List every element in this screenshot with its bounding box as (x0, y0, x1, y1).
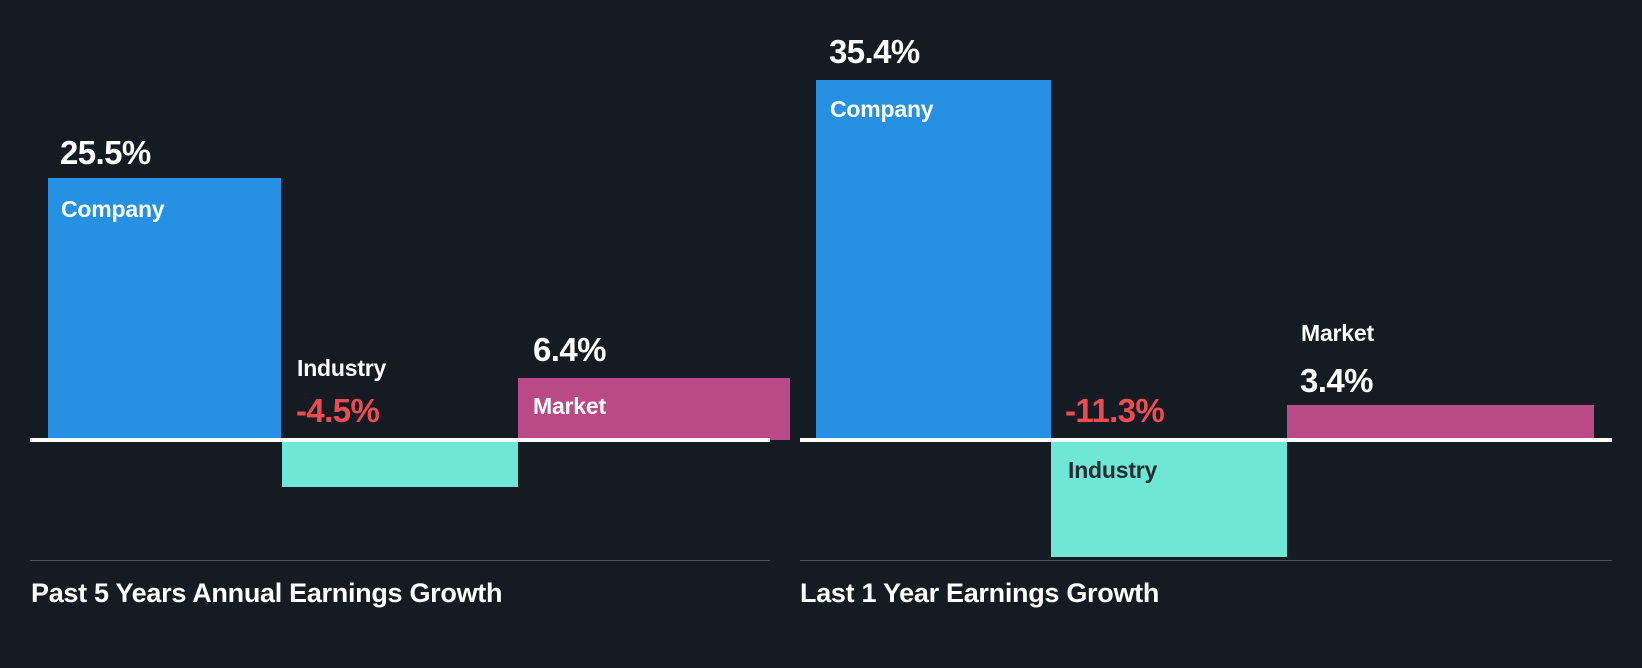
value-company-left: 25.5% (60, 134, 151, 172)
panel-divider-right (800, 560, 1612, 561)
bar-label-market-right: Market (1301, 320, 1374, 347)
panel-title-right: Last 1 Year Earnings Growth (800, 578, 1159, 609)
bar-company-right[interactable] (816, 80, 1051, 440)
value-company-right: 35.4% (829, 33, 920, 71)
chart-panel-last-1-year: 35.4% Company -11.3% Industry Market 3.4… (800, 0, 1642, 668)
panel-title-left: Past 5 Years Annual Earnings Growth (31, 578, 502, 609)
earnings-growth-comparison-chart: 25.5% Company Industry -4.5% 6.4% Market… (0, 0, 1642, 668)
plot-area-left: 25.5% Company Industry -4.5% 6.4% Market (0, 0, 800, 560)
plot-area-right: 35.4% Company -11.3% Industry Market 3.4… (800, 0, 1642, 560)
value-market-right: 3.4% (1300, 362, 1373, 400)
bar-label-company-right: Company (830, 96, 933, 123)
zero-baseline-left (30, 438, 770, 442)
bar-label-industry-left: Industry (297, 355, 386, 382)
value-industry-right: -11.3% (1065, 392, 1164, 430)
value-market-left: 6.4% (533, 331, 606, 369)
bar-label-company-left: Company (61, 196, 164, 223)
bar-label-market-left: Market (533, 393, 606, 420)
bar-label-industry-right: Industry (1068, 457, 1157, 484)
zero-baseline-right (800, 438, 1612, 442)
panel-divider-left (30, 560, 770, 561)
bar-industry-left[interactable] (282, 442, 518, 487)
value-industry-left: -4.5% (296, 392, 379, 430)
bar-market-right[interactable] (1287, 405, 1594, 440)
chart-panel-past-5-years: 25.5% Company Industry -4.5% 6.4% Market… (0, 0, 800, 668)
